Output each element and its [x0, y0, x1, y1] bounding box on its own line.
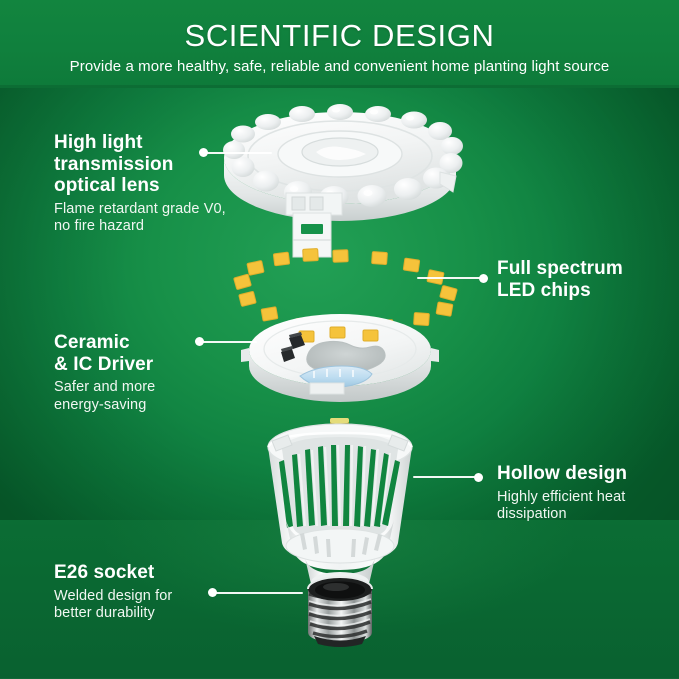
callout-led-chips: Full spectrum LED chips	[497, 258, 667, 301]
leader-line-led-chips	[417, 277, 480, 279]
callout-ceramic-ic-driver-subtext: Safer and more energy-saving	[54, 379, 229, 414]
page-subtitle: Provide a more healthy, safe, reliable a…	[0, 59, 679, 74]
leader-line-optical-lens	[206, 152, 272, 154]
callout-hollow-design-heading: Hollow design	[497, 463, 672, 485]
callout-optical-lens-subtext: Flame retardant grade V0, no fire hazard	[54, 201, 229, 236]
leader-line-e26-socket	[215, 592, 303, 594]
callout-optical-lens-heading: High light transmission optical lens	[54, 132, 229, 197]
leader-line-hollow-design	[413, 476, 475, 478]
callout-hollow-design-subtext: Highly efficient heat dissipation	[497, 489, 672, 524]
leader-dot-led-chips	[479, 274, 488, 283]
callout-led-chips-heading: Full spectrum LED chips	[497, 258, 667, 301]
product-infographic: SCIENTIFIC DESIGN Provide a more healthy…	[0, 0, 679, 679]
leader-line-ceramic-ic-driver	[202, 341, 257, 343]
callout-e26-socket-heading: E26 socket	[54, 562, 239, 584]
leader-dot-hollow-design	[474, 473, 483, 482]
callout-hollow-design: Hollow design Highly efficient heat diss…	[497, 463, 672, 523]
page-title: SCIENTIFIC DESIGN	[0, 20, 679, 51]
